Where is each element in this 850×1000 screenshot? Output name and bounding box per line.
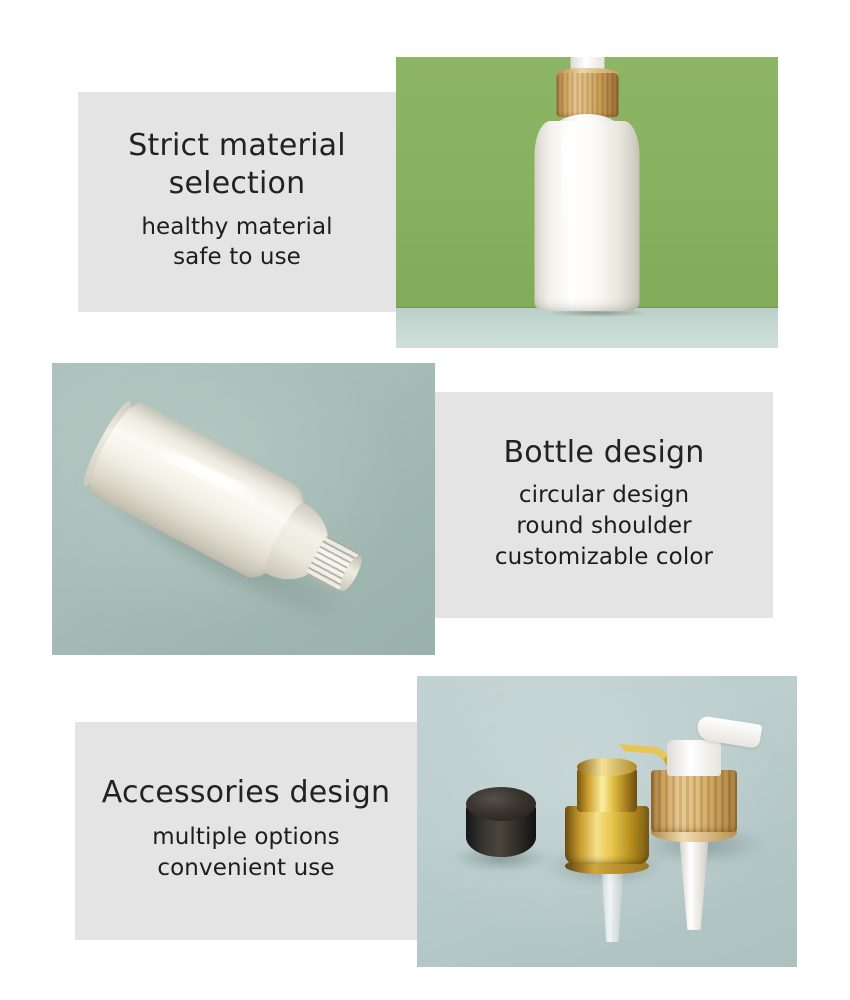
feature-headline-accessories-design: Accessories design [102,774,390,812]
cap-top-face [466,787,536,821]
white-bamboo-pump-bottle [535,121,640,311]
gold-pump-dip-tube [601,866,623,942]
feature-subline-healthy-material: healthy material [141,212,332,243]
black-screw-cap [466,787,536,865]
feature-headline-strict-material-selection: Strict material selection [128,127,345,204]
photo-white-pump-bottle-on-green-background [396,57,778,348]
feature-subline-customizable-color: customizable color [495,542,713,573]
feature-subline-circular-design: circular design [519,480,689,511]
feature-subline-safe-to-use: safe to use [173,242,301,273]
bottle-body [535,121,640,311]
feature-block-strict-material-selection-text-panel: Strict material selection healthy materi… [78,92,396,312]
white-pump-neck [667,740,721,776]
feature-block-accessories-design-text-panel: Accessories design multiple options conv… [75,722,417,940]
white-bamboo-lotion-pump [645,714,755,944]
white-pump-dip-tube [679,834,709,930]
bamboo-collar [651,770,737,832]
showcase-page: Strict material selection healthy materi… [0,0,850,1000]
bamboo-collar [556,73,618,117]
feature-subline-convenient-use: convenient use [157,853,334,884]
feature-subline-multiple-options: multiple options [152,822,340,853]
feature-headline-bottle-design: Bottle design [504,434,705,472]
feature-block-bottle-design-text-panel: Bottle design circular design round shou… [435,392,773,618]
photo-ivory-bottle-lying-on-sage-background [52,363,435,655]
feature-subline-round-shoulder: round shoulder [516,511,691,542]
photo-pumps-and-cap-accessories [417,676,797,967]
